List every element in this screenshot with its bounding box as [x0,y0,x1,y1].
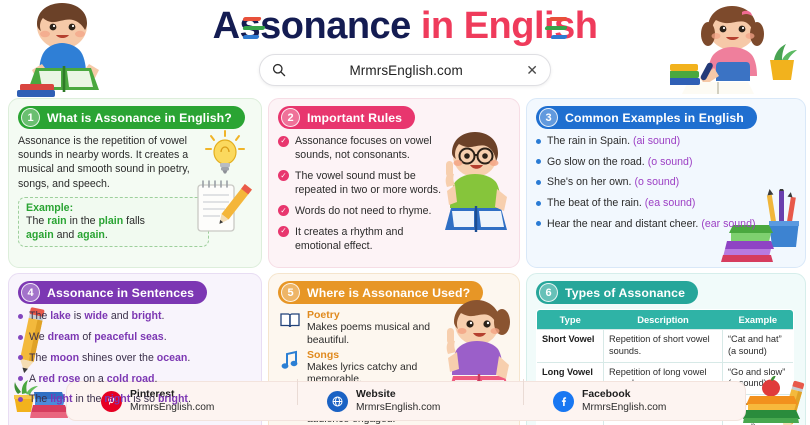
example-text: She's on her own. [547,176,631,188]
open-book-icon [280,309,300,331]
card-3-title: Common Examples in English [565,111,744,125]
sentence-item: The moon shines over the ocean. [18,351,252,365]
card-3-header: 3 Common Examples in English [536,106,757,129]
col-type: Type [537,310,604,330]
card-4-number: 4 [21,283,40,302]
footer-url: MrmrsEnglish.com [356,401,440,414]
col-description: Description [604,310,723,330]
example-item: Hear the near and distant cheer. (ear so… [536,217,796,231]
sound-label: (ear sound) [701,218,755,230]
cell-description: Repetition of short vowel sounds. [604,330,723,362]
rule-item: ✓The vowel sound must be repeated in two… [278,169,451,197]
table-header-row: Type Description Example [537,310,794,330]
card-3-examples-list: The rain in Spain. (ai sound) Go slow on… [536,134,796,231]
header: Assonance in English MrmrsEnglish.com ✕ [0,0,810,96]
sentence-item: The lake is wide and bright. [18,309,252,323]
bullet-icon [18,376,23,381]
search-input[interactable]: MrmrsEnglish.com [286,63,526,78]
cell-example: “Cat and hat”(a sound) [723,330,794,362]
rule-text: The vowel sound must be repeated in two … [295,169,451,197]
card-common-examples: 3 Common Examples in English [526,98,806,268]
card-4-sentences-list: The lake is wide and bright. We dream of… [18,309,252,406]
sentence-text: A red rose on a cold road. [29,372,157,386]
globe-icon [327,391,348,412]
card-3-number: 3 [539,108,558,127]
card-2-header: 2 Important Rules [278,106,415,129]
usage-title: Poetry [307,309,440,322]
footer-item-facebook[interactable]: Facebook MrmrsEnglish.com [519,388,745,414]
card-what-is-assonance: 1 What is Assonance in English? [8,98,262,268]
card-1-title: What is Assonance in English? [47,111,232,125]
rule-item: ✓Assonance focuses on vowel sounds, not … [278,134,451,162]
bullet-icon [536,139,541,144]
example-label: Example: [26,202,201,214]
sentence-item: The light in the night is so bright. [18,392,252,406]
card-6-number: 6 [539,283,558,302]
sound-label: (o sound) [648,156,693,168]
check-icon: ✓ [278,205,289,216]
card-4-header: 4 Assonance in Sentences [18,281,207,304]
card-1-example-box: Example: The rain in the plain falls aga… [18,197,209,247]
check-icon: ✓ [278,226,289,237]
sound-label: (ea sound) [645,197,696,209]
rule-item: ✓Words do not need to rhyme. [278,204,451,218]
search-icon [272,63,286,77]
sentence-item: A red rose on a cold road. [18,372,252,386]
example-text: The rain in Spain. [547,135,630,147]
card-1-header: 1 What is Assonance in English? [18,106,245,129]
col-example: Example [723,310,794,330]
card-5-number: 5 [281,283,300,302]
footer-text-block: Website MrmrsEnglish.com [356,388,440,414]
bullet-icon [18,314,23,319]
rule-text: It creates a rhythm and emotional effect… [295,225,451,253]
example-item: The beat of the rain. (ea sound) [536,196,796,210]
bullet-icon [536,180,541,185]
bullet-icon [18,335,23,340]
infographic-page: Assonance in English MrmrsEnglish.com ✕ … [0,0,810,425]
rule-text: Assonance focuses on vowel sounds, not c… [295,134,451,162]
cards-grid: 1 What is Assonance in English? [8,98,802,425]
ex2-c: again [77,229,105,241]
sparkle-left-icon [243,17,271,51]
title-part-2: in English [421,5,598,47]
sentence-text: The lake is wide and bright. [29,309,164,323]
sound-label: (ai sound) [633,135,680,147]
ex2-b: and [54,229,78,241]
card-assonance-in-sentences: 4 Assonance in Sentences The lake is wid… [8,273,262,425]
card-2-title: Important Rules [307,111,402,125]
ex1-c: in the [67,215,99,227]
footer-url: MrmrsEnglish.com [582,401,666,414]
sentence-item: We dream of peaceful seas. [18,330,252,344]
sentence-text: The moon shines over the ocean. [29,351,190,365]
example-line-1: The rain in the plain falls [26,214,201,228]
facebook-icon [553,391,574,412]
check-icon: ✓ [278,136,289,147]
footer-item-website[interactable]: Website MrmrsEnglish.com [293,388,519,414]
footer-name: Facebook [582,388,666,401]
card-2-number: 2 [281,108,300,127]
sentence-text: The light in the night is so bright. [29,392,191,406]
card-1-number: 1 [21,108,40,127]
notepad-pencil-icon [192,177,252,235]
ex1-d: plain [98,215,123,227]
lightbulb-icon [203,129,247,177]
apple-on-books-illustration [740,376,806,424]
usage-desc: Makes poems musical and beautiful. [307,322,440,347]
sparkle-right-icon [539,17,567,51]
bullet-icon [536,201,541,206]
ex2-a: again [26,229,54,241]
example-item: She's on her own. (o sound) [536,175,796,189]
close-icon[interactable]: ✕ [526,63,538,77]
card-6-header: 6 Types of Assonance [536,281,698,304]
card-1-paragraph: Assonance is the repetition of vowel sou… [18,134,193,191]
sound-label: (o sound) [634,176,679,188]
card-important-rules: 2 Important Rules [268,98,520,268]
ex1-b: rain [47,215,66,227]
cell-type: Short Vowel [537,330,604,362]
example-line-2: again and again. [26,228,201,242]
usage-row: Poetry Makes poems musical and beautiful… [280,309,440,347]
ex2-d: . [105,229,108,241]
page-title: Assonance in English [0,4,810,48]
bullet-icon [18,397,23,402]
card-4-title: Assonance in Sentences [47,286,194,300]
rule-text: Words do not need to rhyme. [295,204,431,218]
example-item: Go slow on the road. (o sound) [536,155,796,169]
bullet-icon [536,221,541,226]
card-2-rules-list: ✓Assonance focuses on vowel sounds, not … [278,134,451,253]
card-6-title: Types of Assonance [565,286,685,300]
music-note-icon [280,349,300,371]
example-text: Go slow on the road. [547,156,645,168]
bullet-icon [18,355,23,360]
example-item: The rain in Spain. (ai sound) [536,134,796,148]
usage-title: Songs [307,349,440,362]
rule-item: ✓It creates a rhythm and emotional effec… [278,225,451,253]
ex1-e: falls [123,215,145,227]
table-row: Short Vowel Repetition of short vowel so… [537,330,794,362]
example-text: Hear the near and distant cheer. [547,218,698,230]
search-bar[interactable]: MrmrsEnglish.com ✕ [259,54,551,86]
footer-name: Website [356,388,440,401]
bullet-icon [536,159,541,164]
footer-text-block: Facebook MrmrsEnglish.com [582,388,666,414]
sentence-text: We dream of peaceful seas. [29,330,167,344]
ex1-a: The [26,215,47,227]
example-text: The beat of the rain. [547,197,642,209]
check-icon: ✓ [278,170,289,181]
